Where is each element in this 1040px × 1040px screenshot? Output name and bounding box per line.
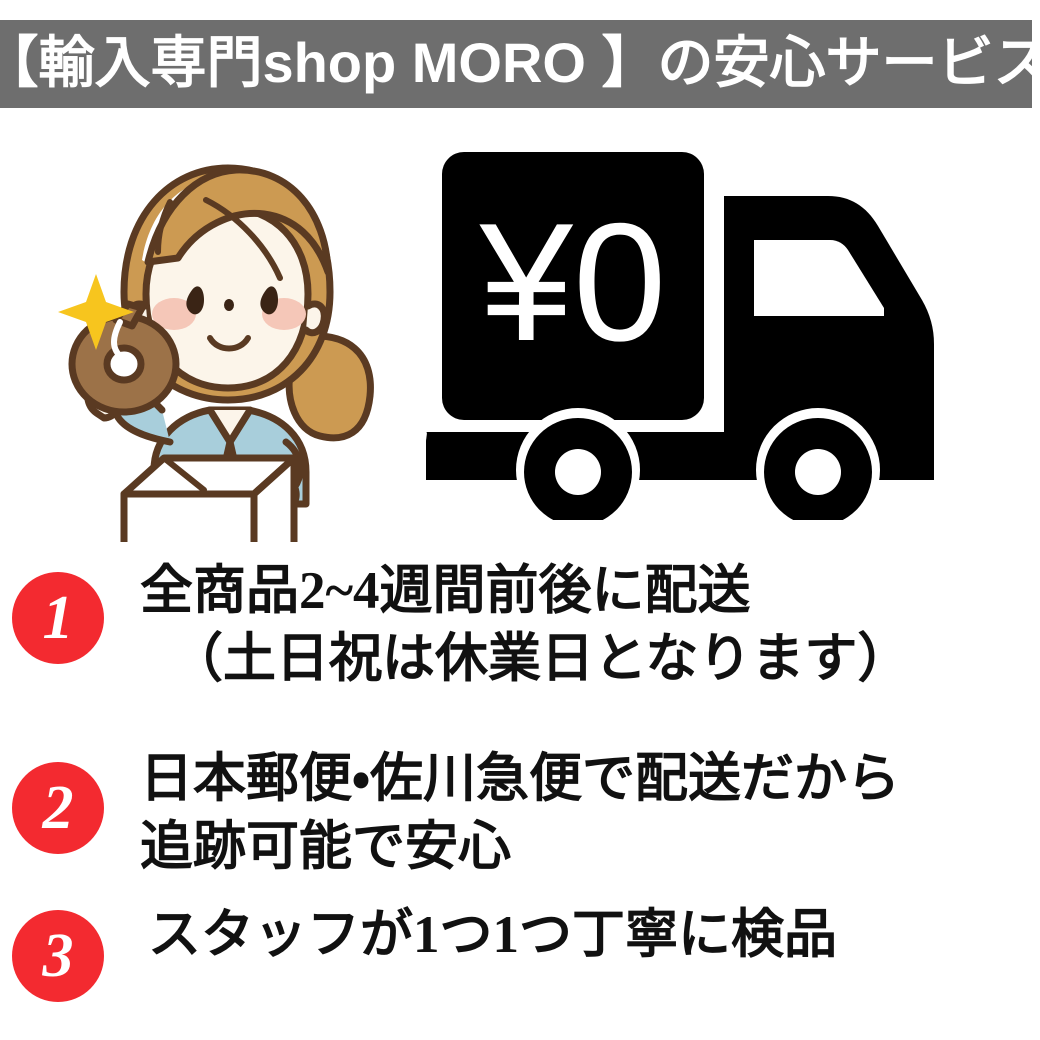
cargo-price-label: ¥0 xyxy=(479,188,667,376)
service-list: 1 全商品2~4週間前後に配送 （土日祝は休業日となります） 2 日本郵便・佐川… xyxy=(0,552,1040,1022)
service-item-3: 3 スタッフが1つ1つ丁寧に検品 xyxy=(0,902,1040,1022)
service-item-2: 2 日本郵便・佐川急便で配送だから 追跡可能で安心 xyxy=(0,742,1040,902)
illustration-row: ¥0 xyxy=(0,120,1040,540)
service-number-badge-1: 1 xyxy=(12,572,104,664)
service-item-1: 1 全商品2~4週間前後に配送 （土日祝は休業日となります） xyxy=(0,552,1040,742)
service-text-2-line2: 追跡可能で安心 xyxy=(140,814,900,882)
header-banner: 【輸入専門shop MORO 】の安心サービス xyxy=(0,20,1032,108)
service-number-badge-3: 3 xyxy=(12,910,104,1002)
page-title: 【輸入専門shop MORO 】の安心サービス xyxy=(0,35,1040,91)
woman-packing-box-illustration xyxy=(58,142,398,547)
service-text-1-line2: （土日祝は休業日となります） xyxy=(140,626,910,694)
service-text-1: 全商品2~4週間前後に配送 （土日祝は休業日となります） xyxy=(140,558,910,694)
service-text-3: スタッフが1つ1つ丁寧に検品 xyxy=(148,902,837,970)
service-text-2-line1: 日本郵便・佐川急便で配送だから xyxy=(140,746,900,814)
delivery-truck-icon: ¥0 xyxy=(418,140,990,525)
promo-banner-page: 【輸入専門shop MORO 】の安心サービス xyxy=(0,0,1040,1040)
service-text-1-line1: 全商品2~4週間前後に配送 xyxy=(140,558,910,626)
service-number-badge-2: 2 xyxy=(12,762,104,854)
service-text-3-line1: スタッフが1つ1つ丁寧に検品 xyxy=(148,902,837,970)
service-text-2: 日本郵便・佐川急便で配送だから 追跡可能で安心 xyxy=(140,746,900,882)
